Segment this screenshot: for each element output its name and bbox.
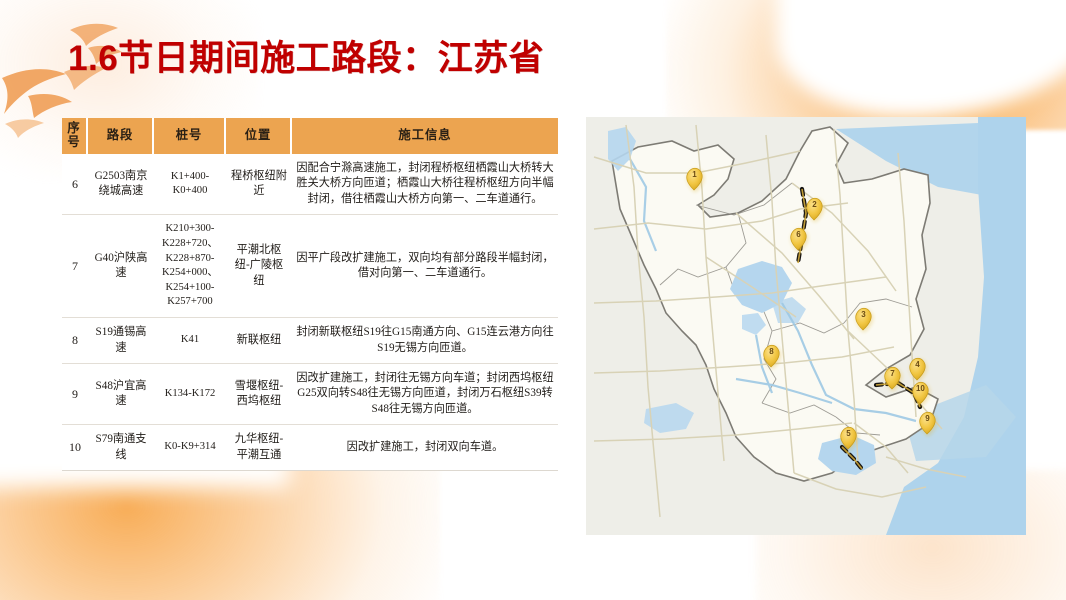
cell-road: S19通锡高速 — [88, 318, 154, 364]
cell-no: 9 — [62, 364, 88, 425]
marker-label: 9 — [925, 414, 930, 423]
column-header-info: 施工信息 — [292, 118, 558, 154]
column-header-location: 位置 — [226, 118, 292, 154]
background-wave-overlay-top-right — [776, 0, 1066, 118]
cell-road: G40沪陕高速 — [88, 215, 154, 318]
column-header-stake: 桩号 — [154, 118, 226, 154]
cell-no: 7 — [62, 215, 88, 318]
column-header-road: 路段 — [88, 118, 154, 154]
jiangsu-map: 1 2 6 3 8 — [586, 117, 1026, 535]
marker-label: 7 — [890, 369, 895, 378]
cell-info: 封闭新联枢纽S19往G15南通方向、G15连云港方向往S19无锡方向匝道。 — [292, 318, 558, 364]
swallow-icon — [2, 112, 64, 156]
cell-info: 因改扩建施工，封闭往无锡方向车道；封闭西坞枢纽G25双向转S48往无锡方向匝道，… — [292, 364, 558, 425]
marker-label: 6 — [796, 230, 801, 239]
cell-stake: K1+400-K0+400 — [154, 154, 226, 215]
cell-location: 平潮北枢纽-广陵枢纽 — [226, 215, 292, 318]
cell-no: 6 — [62, 154, 88, 215]
cell-location: 雪堰枢纽-西坞枢纽 — [226, 364, 292, 425]
cell-location: 九华枢纽-平潮互通 — [226, 425, 292, 471]
table-row: 7 G40沪陕高速 K210+300-K228+720、K228+870-K25… — [62, 215, 558, 318]
column-header-no: 序号 — [62, 118, 88, 154]
table-header-row: 序号 路段 桩号 位置 施工信息 — [62, 118, 558, 154]
marker-label: 8 — [769, 347, 774, 356]
table-row: 10 S79南通支线 K0-K9+314 九华枢纽-平潮互通 因改扩建施工，封闭… — [62, 425, 558, 471]
cell-stake: K0-K9+314 — [154, 425, 226, 471]
cell-no: 10 — [62, 425, 88, 471]
table-row: 9 S48沪宜高速 K134-K172 雪堰枢纽-西坞枢纽 因改扩建施工，封闭往… — [62, 364, 558, 425]
cell-info: 因平广段改扩建施工，双向均有部分路段半幅封闭，借对向第一、二车道通行。 — [292, 215, 558, 318]
cell-road: G2503南京绕城高速 — [88, 154, 154, 215]
cell-info: 因配合宁滁高速施工，封闭程桥枢纽栖霞山大桥转大胜关大桥方向匝道；栖霞山大桥往程桥… — [292, 154, 558, 215]
cell-info: 因改扩建施工，封闭双向车道。 — [292, 425, 558, 471]
cell-road: S48沪宜高速 — [88, 364, 154, 425]
marker-label: 5 — [846, 429, 851, 438]
table-row: 6 G2503南京绕城高速 K1+400-K0+400 程桥枢纽附近 因配合宁滁… — [62, 154, 558, 215]
slide-canvas: 1.6节日期间施工路段：江苏省 序号 路段 桩号 位置 施工信息 6 G2503… — [0, 0, 1066, 600]
marker-label: 2 — [812, 200, 817, 209]
cell-road: S79南通支线 — [88, 425, 154, 471]
marker-label: 4 — [915, 360, 920, 369]
marker-label: 1 — [692, 170, 697, 179]
cell-stake: K210+300-K228+720、K228+870-K254+000、K254… — [154, 215, 226, 318]
marker-label: 10 — [916, 384, 925, 393]
cell-no: 8 — [62, 318, 88, 364]
cell-stake: K41 — [154, 318, 226, 364]
cell-stake: K134-K172 — [154, 364, 226, 425]
cell-location: 新联枢纽 — [226, 318, 292, 364]
construction-sections-table: 序号 路段 桩号 位置 施工信息 6 G2503南京绕城高速 K1+400-K0… — [62, 118, 558, 471]
page-title: 1.6节日期间施工路段：江苏省 — [68, 30, 544, 81]
marker-label: 3 — [861, 310, 866, 319]
table-row: 8 S19通锡高速 K41 新联枢纽 封闭新联枢纽S19往G15南通方向、G15… — [62, 318, 558, 364]
cell-location: 程桥枢纽附近 — [226, 154, 292, 215]
background-wash-top-right — [666, 0, 1066, 130]
